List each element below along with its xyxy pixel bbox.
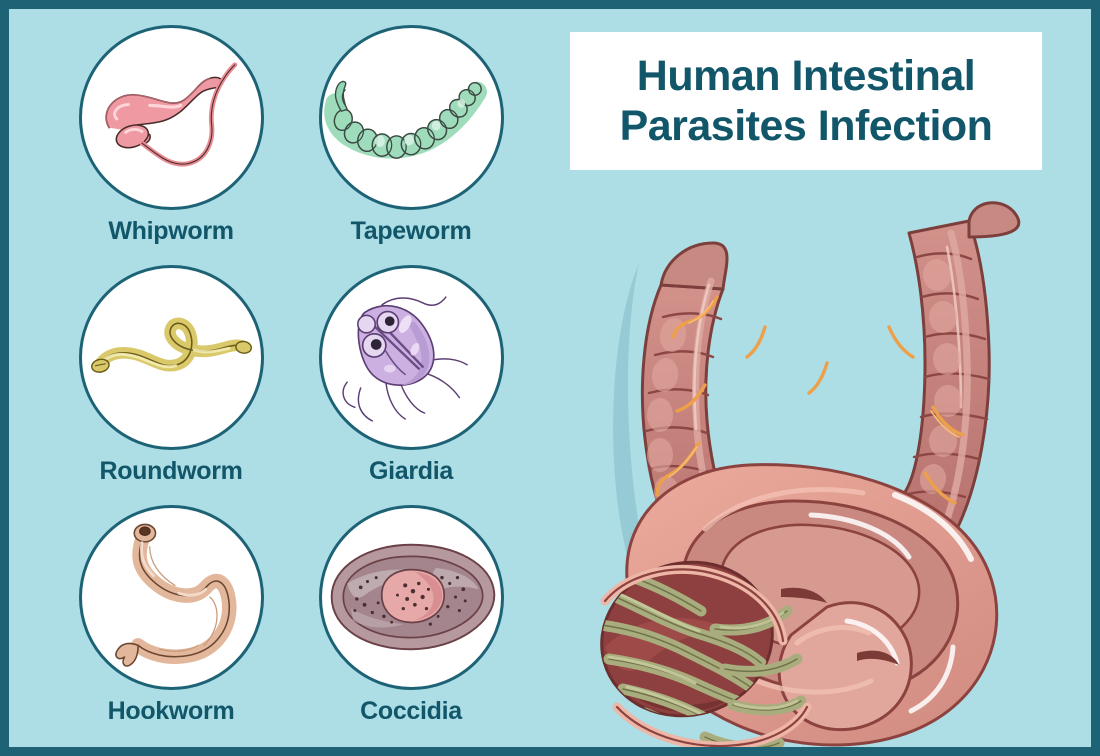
parasite-label: Coccidia — [311, 699, 511, 724]
parasite-item-whipworm[interactable]: Whipworm — [71, 25, 271, 244]
parasite-label: Roundworm — [71, 459, 271, 484]
human-intestine-illustration — [565, 177, 1100, 756]
coccidia-icon — [319, 505, 504, 690]
whipworm-icon — [79, 25, 264, 210]
parasite-item-coccidia[interactable]: Coccidia — [311, 505, 511, 724]
hookworm-icon — [79, 505, 264, 690]
parasite-item-hookworm[interactable]: Hookworm — [71, 505, 271, 724]
page-title: Human Intestinal Parasites Infection — [570, 32, 1042, 170]
parasite-item-tapeworm[interactable]: Tapeworm — [311, 25, 511, 244]
page-title-line-1: Human Intestinal — [637, 52, 975, 100]
parasite-label: Giardia — [311, 459, 511, 484]
giardia-icon — [319, 265, 504, 450]
roundworm-icon — [79, 265, 264, 450]
parasite-label: Tapeworm — [311, 219, 511, 244]
page-title-line-2: Parasites Infection — [620, 102, 993, 150]
parasite-label: Hookworm — [71, 699, 271, 724]
tapeworm-icon — [319, 25, 504, 210]
poster-root: Human Intestinal Parasites Infection — [0, 0, 1100, 756]
parasite-item-roundworm[interactable]: Roundworm — [71, 265, 271, 484]
parasite-item-giardia[interactable]: Giardia — [311, 265, 511, 484]
parasite-label: Whipworm — [71, 219, 271, 244]
parasite-icon-grid: Whipworm — [65, 25, 515, 749]
